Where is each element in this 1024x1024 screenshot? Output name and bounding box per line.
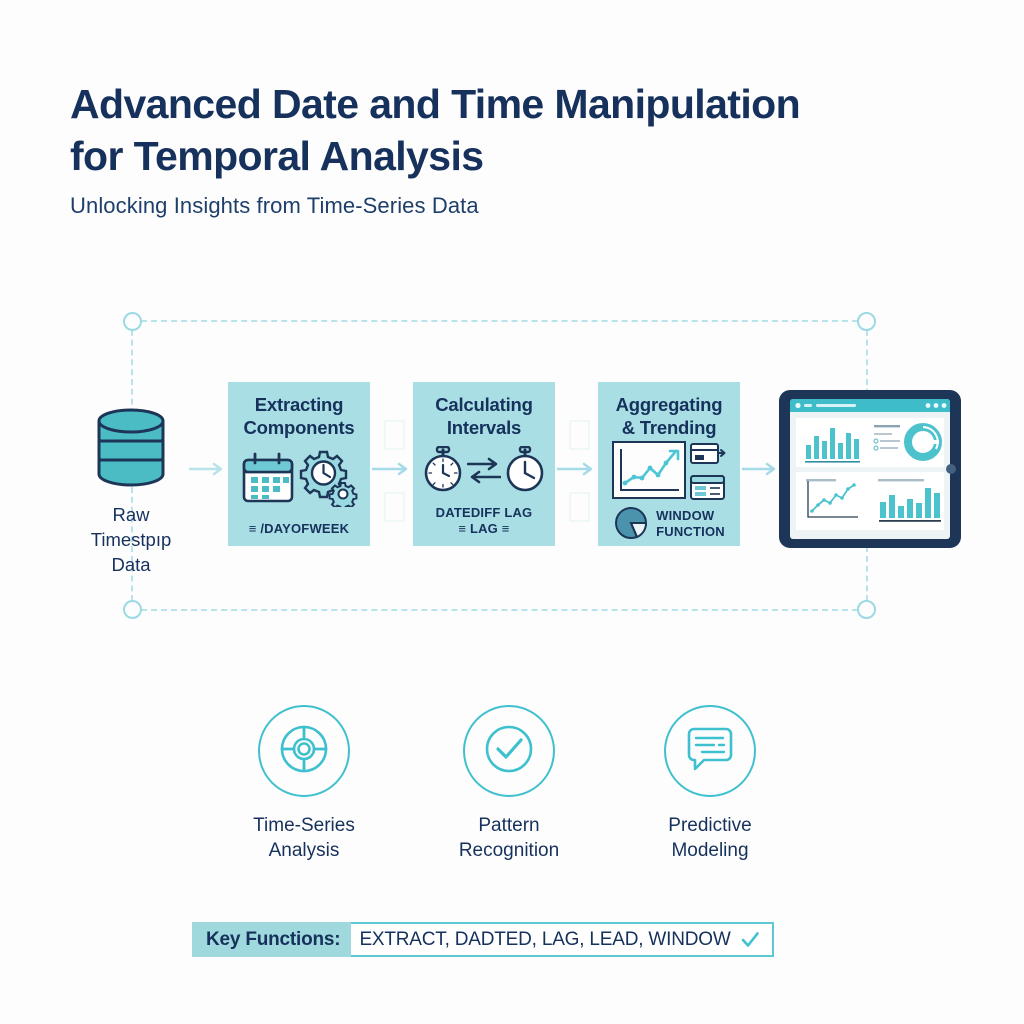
tablet-dashboard[interactable] bbox=[779, 390, 961, 548]
feature-label-line2: Modeling bbox=[620, 838, 800, 863]
frame-corner-bottom-right bbox=[857, 600, 876, 619]
frame-corner-top-left bbox=[123, 312, 142, 331]
check-circle-icon bbox=[483, 723, 535, 780]
stage-title-line1: Aggregating bbox=[616, 393, 723, 416]
stage-title-line2: Components bbox=[243, 416, 354, 439]
speech-bubble-icon bbox=[683, 725, 737, 778]
stage-code-line1: WINDOW bbox=[656, 508, 714, 523]
arrow-right-icon bbox=[189, 462, 229, 476]
stopwatch-icon bbox=[423, 446, 463, 499]
stage-code: ≡ /DAYOFWEEK bbox=[249, 521, 350, 546]
key-functions-value: EXTRACT, DADTED, LAG, LEAD, WINDOW bbox=[359, 929, 730, 951]
stage-icon-group bbox=[413, 439, 555, 505]
stage-title: Extracting Components bbox=[243, 393, 354, 439]
gear-clock-icon bbox=[298, 449, 358, 512]
feature-label-line2: Analysis bbox=[214, 838, 394, 863]
raw-data-label-line3: Data bbox=[72, 552, 190, 577]
key-functions-label: Key Functions: bbox=[192, 922, 351, 957]
key-functions-value-field[interactable]: EXTRACT, DADTED, LAG, LEAD, WINDOW bbox=[351, 922, 773, 957]
stage-title: Calculating Intervals bbox=[435, 393, 533, 439]
stage-title-line1: Calculating bbox=[435, 393, 533, 416]
stage-title: Aggregating & Trending bbox=[616, 393, 723, 439]
pipeline-stage-calculating-intervals[interactable]: Calculating Intervals bbox=[413, 382, 555, 546]
key-functions-bar[interactable]: Key Functions: EXTRACT, DADTED, LAG, LEA… bbox=[192, 922, 774, 957]
stage-title-line1: Extracting bbox=[243, 393, 354, 416]
feature-time-series-analysis[interactable]: Time-Series Analysis bbox=[214, 705, 394, 863]
calendar-icon bbox=[241, 452, 295, 509]
ghost-artifact bbox=[567, 418, 593, 533]
stage-icon-group bbox=[598, 439, 740, 506]
raw-data-source: Raw Timestpıp Data bbox=[72, 405, 190, 577]
stage-icon-group bbox=[228, 439, 370, 521]
feature-predictive-modeling[interactable]: Predictive Modeling bbox=[620, 705, 800, 863]
frame-corner-top-right bbox=[857, 312, 876, 331]
feature-label-line1: Predictive bbox=[620, 813, 800, 838]
frame-edge-bottom bbox=[131, 609, 868, 611]
check-icon bbox=[740, 930, 760, 950]
page-subtitle: Unlocking Insights from Time-Series Data bbox=[70, 193, 479, 219]
feature-label-line1: Pattern bbox=[419, 813, 599, 838]
feature-circle bbox=[664, 705, 756, 797]
target-segments-icon bbox=[278, 723, 330, 780]
stage-code: WINDOW FUNCTION bbox=[656, 508, 725, 540]
raw-data-label-line2: Timestpıp bbox=[72, 527, 190, 552]
infographic-canvas: Advanced Date and Time Manipulation for … bbox=[0, 0, 1024, 1024]
feature-label: Pattern Recognition bbox=[419, 813, 599, 863]
exchange-arrows-icon bbox=[467, 455, 501, 490]
stage-footer-group: WINDOW FUNCTION bbox=[598, 502, 740, 546]
pipeline-stage-extracting-components[interactable]: Extracting Components bbox=[228, 382, 370, 546]
frame-corner-bottom-left bbox=[123, 600, 142, 619]
feature-label-line1: Time-Series bbox=[214, 813, 394, 838]
tablet-screen bbox=[790, 399, 950, 539]
stage-title-line2: Intervals bbox=[435, 416, 533, 439]
ghost-artifact bbox=[382, 418, 408, 533]
stage-code-line1: ≡ /DAYOFWEEK bbox=[249, 521, 350, 536]
card-icon bbox=[690, 441, 726, 471]
line-chart-icon bbox=[612, 441, 686, 504]
page-title-line1: Advanced Date and Time Manipulation bbox=[70, 81, 800, 127]
database-cylinder-icon bbox=[93, 476, 169, 493]
clock-icon bbox=[505, 446, 545, 499]
pie-chart-icon bbox=[613, 503, 651, 546]
raw-data-label-line1: Raw bbox=[72, 502, 190, 527]
stage-code-line1: DATEDIFF LAG bbox=[436, 505, 533, 520]
page-title: Advanced Date and Time Manipulation for … bbox=[70, 78, 940, 182]
stage-code-line2: ≡ LAG ≡ bbox=[436, 521, 533, 537]
raw-data-source-label: Raw Timestpıp Data bbox=[72, 502, 190, 577]
feature-circle bbox=[463, 705, 555, 797]
feature-label-line2: Recognition bbox=[419, 838, 599, 863]
tablet-home-button-icon bbox=[946, 464, 956, 474]
feature-label: Predictive Modeling bbox=[620, 813, 800, 863]
dashboard-charts bbox=[790, 399, 950, 539]
pipeline-stage-aggregating-trending[interactable]: Aggregating & Trending bbox=[598, 382, 740, 546]
stage-title-line2: & Trending bbox=[616, 416, 723, 439]
stage-code-line2: FUNCTION bbox=[656, 524, 725, 540]
feature-pattern-recognition[interactable]: Pattern Recognition bbox=[419, 705, 599, 863]
stage-code: DATEDIFF LAG ≡ LAG ≡ bbox=[436, 505, 533, 546]
page-title-line2: for Temporal Analysis bbox=[70, 130, 940, 182]
arrow-right-icon bbox=[742, 462, 782, 476]
feature-label: Time-Series Analysis bbox=[214, 813, 394, 863]
frame-edge-top bbox=[131, 320, 868, 322]
feature-circle bbox=[258, 705, 350, 797]
